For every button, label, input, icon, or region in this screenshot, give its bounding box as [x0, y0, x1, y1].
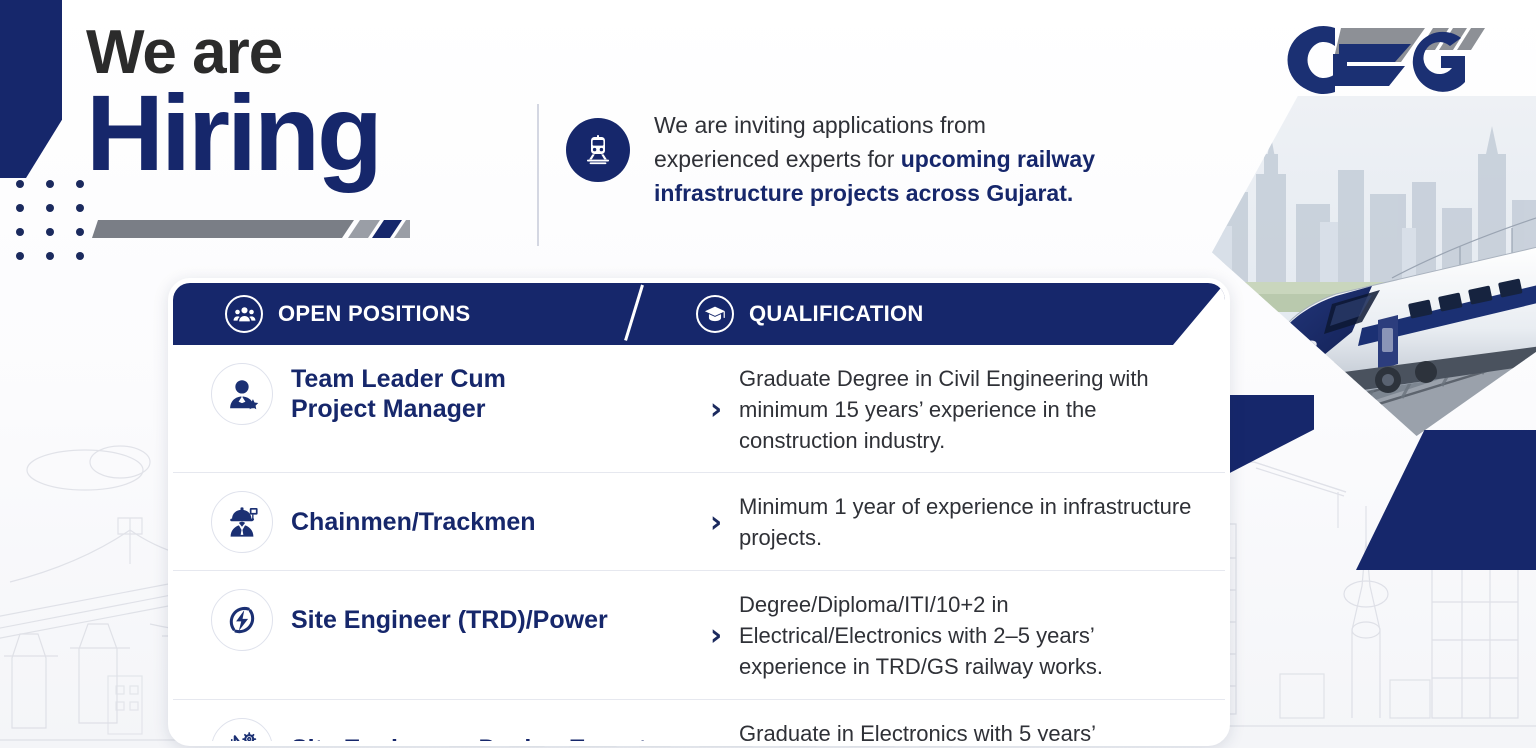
lightning-bolt-icon [211, 589, 273, 651]
row-position-title: Team Leader Cum Project Manager [291, 364, 506, 424]
row-position-cell: Site Engineer – Design Expert [173, 717, 693, 746]
train-skyline-photo [1212, 96, 1536, 436]
navy-wedge-mid-right [1222, 395, 1314, 477]
header-qualification-label: QUALIFICATION [749, 301, 924, 327]
table-row[interactable]: Site Engineer (TRD)/Power › Degree/Diplo… [173, 571, 1225, 699]
header-open-positions-label: OPEN POSITIONS [278, 301, 470, 327]
headline-line-2: Hiring [86, 80, 556, 186]
hardhat-worker-icon [211, 491, 273, 553]
row-position-cell: Chainmen/Trackmen [173, 490, 693, 554]
positions-card: OPEN POSITIONS QUALIFICATION [168, 278, 1230, 746]
header-qualification: QUALIFICATION [643, 295, 924, 333]
headline-block: We are Hiring [86, 22, 556, 186]
row-position-cell: Team Leader Cum Project Manager [173, 362, 693, 426]
row-qualification-text: Graduate in Electronics with 5 years’ ex… [739, 717, 1225, 746]
row-chevron-icon: › [693, 618, 739, 653]
graduation-cap-icon [696, 295, 734, 333]
row-chevron-icon: › [693, 392, 739, 427]
train-icon [581, 133, 615, 167]
navy-wedge-bottom-right [1356, 430, 1536, 570]
row-qualification-text: Minimum 1 year of experience in infrastr… [739, 490, 1225, 554]
row-position-title: Site Engineer (TRD)/Power [291, 605, 608, 635]
people-group-icon [225, 295, 263, 333]
table-row[interactable]: Team Leader Cum Project Manager › Gradua… [173, 345, 1225, 473]
train-badge [566, 118, 630, 182]
row-position-title: Chainmen/Trackmen [291, 507, 536, 537]
speed-stripe-decoration [92, 218, 410, 240]
row-position-title: Site Engineer – Design Expert [291, 734, 647, 746]
ceg-logo-mark [1273, 22, 1495, 104]
row-position-title-line1: Team Leader Cum [291, 365, 506, 393]
hiring-poster: We are Hiring We are invi [0, 0, 1536, 748]
row-position-title-line2: Project Manager [291, 395, 486, 423]
drafting-triangle-gear-icon [211, 718, 273, 746]
row-chevron-icon: › [693, 505, 739, 540]
corner-navy-shape [0, 0, 62, 178]
row-qualification-text: Graduate Degree in Civil Engineering wit… [739, 362, 1225, 456]
row-qualification-text: Degree/Diploma/ITI/10+2 in Electrical/El… [739, 588, 1225, 682]
intro-text: We are inviting applications from experi… [654, 108, 1106, 210]
table-row[interactable]: Site Engineer – Design Expert › Graduate… [173, 700, 1225, 746]
dot-grid-decoration [16, 180, 84, 260]
manager-person-star-icon [211, 363, 273, 425]
positions-table: Team Leader Cum Project Manager › Gradua… [173, 345, 1225, 746]
header-divider [537, 104, 539, 246]
table-header-bar: OPEN POSITIONS QUALIFICATION [173, 283, 1225, 345]
header-open-positions: OPEN POSITIONS [173, 295, 643, 333]
intro-block: We are inviting applications from experi… [566, 108, 1106, 210]
table-row[interactable]: Chainmen/Trackmen › Minimum 1 year of ex… [173, 473, 1225, 571]
row-position-cell: Site Engineer (TRD)/Power [173, 588, 693, 652]
